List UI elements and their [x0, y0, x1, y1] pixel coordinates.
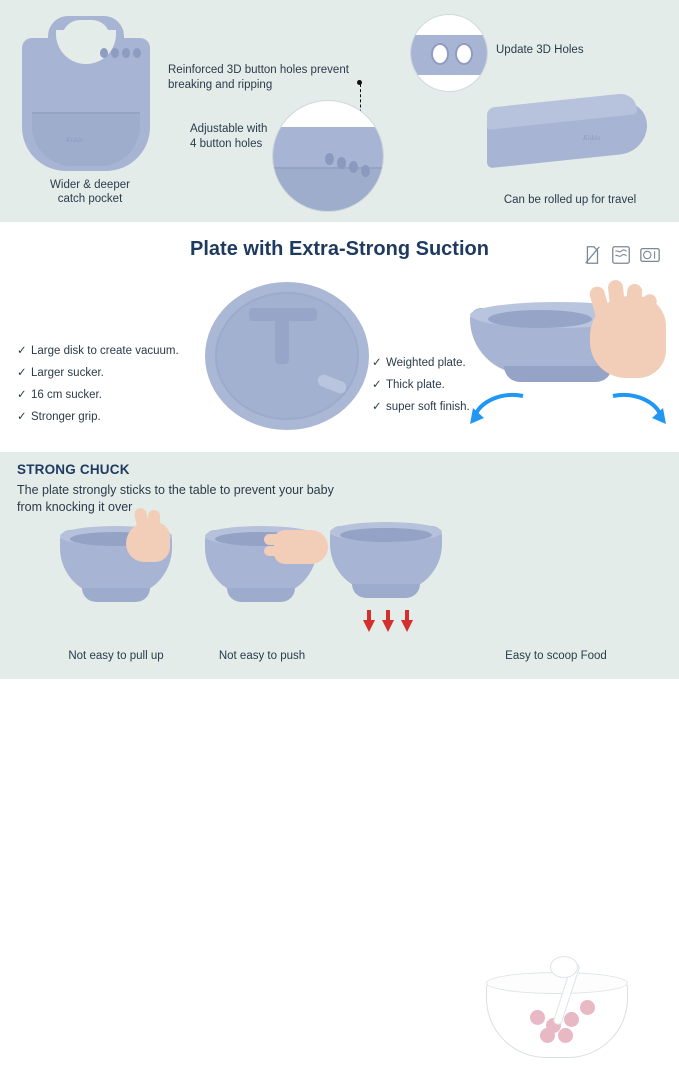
food-piece	[558, 1028, 573, 1043]
feature-item: ✓Larger sucker.	[17, 362, 179, 384]
strong-chuck-subtitle: The plate strongly sticks to the table t…	[17, 482, 457, 516]
plate-suction-stem	[275, 308, 289, 364]
white-bowl-with-food	[486, 966, 626, 1066]
feature-label: Larger sucker.	[31, 367, 104, 379]
brand-logo: Kiddo	[66, 136, 83, 144]
arrow-down-icon	[363, 620, 375, 632]
food-piece	[564, 1012, 579, 1027]
check-icon: ✓	[17, 406, 31, 428]
feature-item: ✓Thick plate.	[372, 374, 470, 396]
bowl-suction-base	[352, 584, 420, 598]
plate-side-well	[488, 310, 592, 328]
plate-section-title: Plate with Extra-Strong Suction	[0, 238, 679, 261]
hand-illustration	[580, 280, 672, 388]
caption-catch-pocket-line1: Wider & deeper	[10, 178, 170, 192]
finger	[264, 534, 290, 545]
zoom-detail-button-holes	[272, 100, 384, 212]
check-icon: ✓	[17, 362, 31, 384]
check-icon: ✓	[17, 384, 31, 406]
finger	[148, 510, 160, 534]
bib-catch-pocket	[32, 112, 140, 166]
caption-catch-pocket: Wider & deeper catch pocket	[10, 178, 170, 206]
product-infographic: Kiddo Wider & deeper catch pocket Reinfo…	[0, 0, 679, 679]
hand-pull-up	[120, 508, 176, 560]
zoom-3d-hole-left	[431, 43, 449, 65]
bowl-interior	[340, 528, 432, 542]
connector-dot-reinforced	[357, 80, 362, 85]
arrow-down-icon	[401, 620, 413, 632]
caption-easy-scoop: Easy to scoop Food	[476, 650, 636, 662]
bowl-demo-suction-force	[330, 526, 442, 606]
panel-strong-chuck: STRONG CHUCK The plate strongly sticks t…	[0, 450, 679, 679]
feature-item: ✓Weighted plate.	[372, 352, 470, 374]
zoom-detail-3d-holes	[410, 14, 488, 92]
motion-arrow-right-icon	[608, 390, 668, 426]
check-icon: ✓	[372, 374, 386, 396]
zoom-3d-hole-right	[455, 43, 473, 65]
bib-button-holes	[100, 46, 144, 62]
label-reinforced-holes-line1: Reinforced 3D button holes prevent	[168, 63, 378, 78]
panel-bib: Kiddo Wider & deeper catch pocket Reinfo…	[0, 0, 679, 222]
caption-not-easy-pull-up: Not easy to pull up	[36, 650, 196, 662]
food-piece	[540, 1028, 555, 1043]
arrow-stem	[367, 610, 371, 620]
label-update-3d-holes: Update 3D Holes	[496, 44, 584, 56]
plate-features-right: ✓Weighted plate. ✓Thick plate. ✓super so…	[372, 352, 470, 418]
label-reinforced-holes: Reinforced 3D button holes prevent break…	[168, 63, 378, 93]
strong-chuck-title: STRONG CHUCK	[17, 462, 130, 477]
bowl-suction-base	[227, 588, 295, 602]
feature-label: Large disk to create vacuum.	[31, 345, 179, 357]
feature-label: super soft finish.	[386, 401, 470, 413]
hand-push	[264, 520, 330, 568]
arrow-stem	[405, 610, 409, 620]
microwave-safe-icon	[639, 243, 661, 267]
food-piece	[580, 1000, 595, 1015]
bowl-suction-base	[82, 588, 150, 602]
check-icon: ✓	[372, 396, 386, 418]
feature-label: Weighted plate.	[386, 357, 466, 369]
no-bpa-icon	[581, 243, 603, 267]
finger	[264, 546, 286, 556]
feature-item: ✓super soft finish.	[372, 396, 470, 418]
zoom-3d-band	[410, 35, 488, 75]
caption-catch-pocket-line2: catch pocket	[10, 192, 170, 206]
motion-arrow-left-icon	[468, 390, 528, 426]
panel-divider	[0, 450, 679, 452]
caption-rolled-travel: Can be rolled up for travel	[470, 194, 670, 206]
plate-features-left: ✓Large disk to create vacuum. ✓Larger su…	[17, 340, 179, 428]
feature-item: ✓Large disk to create vacuum.	[17, 340, 179, 362]
arrow-down-icon	[382, 620, 394, 632]
bib-illustration: Kiddo	[22, 16, 150, 171]
check-icon: ✓	[372, 352, 386, 374]
panel-plate: Plate with Extra-Strong Suction ✓Large d…	[0, 222, 679, 450]
feature-item: ✓16 cm sucker.	[17, 384, 179, 406]
caption-not-easy-push: Not easy to push	[182, 650, 342, 662]
strong-chuck-subtitle-line1: The plate strongly sticks to the table t…	[17, 482, 457, 499]
feature-label: Stronger grip.	[31, 411, 101, 423]
rolled-bib-illustration: Kiddo	[487, 90, 647, 170]
spoon-bowl	[550, 956, 578, 978]
feature-item: ✓Stronger grip.	[17, 406, 179, 428]
feature-label: 16 cm sucker.	[31, 389, 102, 401]
feature-label: Thick plate.	[386, 379, 445, 391]
arrow-stem	[386, 610, 390, 620]
check-icon: ✓	[17, 340, 31, 362]
food-piece	[530, 1010, 545, 1025]
dishwasher-safe-icon	[610, 243, 632, 267]
label-reinforced-holes-line2: breaking and ripping	[168, 78, 378, 93]
strong-chuck-subtitle-line2: from knocking it over	[17, 499, 457, 516]
rolled-bib-logo: Kiddo	[583, 134, 600, 142]
certification-badges	[581, 242, 665, 268]
plate-bottom-view	[205, 282, 369, 434]
